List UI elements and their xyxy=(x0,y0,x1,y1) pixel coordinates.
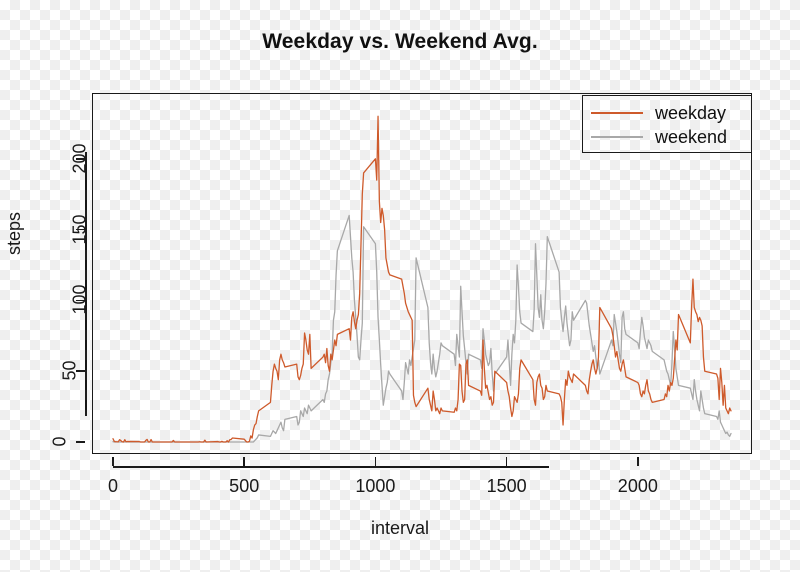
y-tick-label-0: 0 xyxy=(50,436,71,446)
x-tick-label-500: 500 xyxy=(229,476,259,497)
legend-swatch-weekday xyxy=(591,112,643,114)
series-line-weekend xyxy=(113,215,731,442)
x-tick-500 xyxy=(243,457,245,466)
x-tick-2000 xyxy=(637,457,639,466)
chart-title: Weekday vs. Weekend Avg. xyxy=(0,30,800,54)
y-tick-0 xyxy=(76,441,85,443)
x-tick-label-0: 0 xyxy=(108,476,118,497)
y-tick-label-50: 50 xyxy=(60,361,81,381)
legend-entry-weekend: weekend xyxy=(583,126,727,148)
x-tick-label-1000: 1000 xyxy=(355,476,395,497)
x-tick-1500 xyxy=(506,457,508,466)
x-tick-label-1500: 1500 xyxy=(487,476,527,497)
legend-swatch-weekend xyxy=(591,136,643,138)
legend-entry-weekday: weekday xyxy=(583,102,726,124)
legend-label-weekend: weekend xyxy=(655,127,727,148)
x-axis-line xyxy=(113,466,549,468)
series-line-weekday xyxy=(113,116,731,442)
y-tick-label-150: 150 xyxy=(70,214,91,244)
y-tick-label-100: 100 xyxy=(70,285,91,315)
y-tick-label-200: 200 xyxy=(70,143,91,173)
chart-canvas: Weekday vs. Weekend Avg. 050010001500200… xyxy=(0,0,800,572)
legend-label-weekday: weekday xyxy=(655,103,726,124)
legend-box: weekday weekend xyxy=(582,95,752,153)
x-tick-label-2000: 2000 xyxy=(618,476,658,497)
x-axis-title: interval xyxy=(0,518,800,539)
x-tick-1000 xyxy=(375,457,377,466)
y-axis-title: steps xyxy=(4,212,25,255)
x-tick-0 xyxy=(112,457,114,466)
